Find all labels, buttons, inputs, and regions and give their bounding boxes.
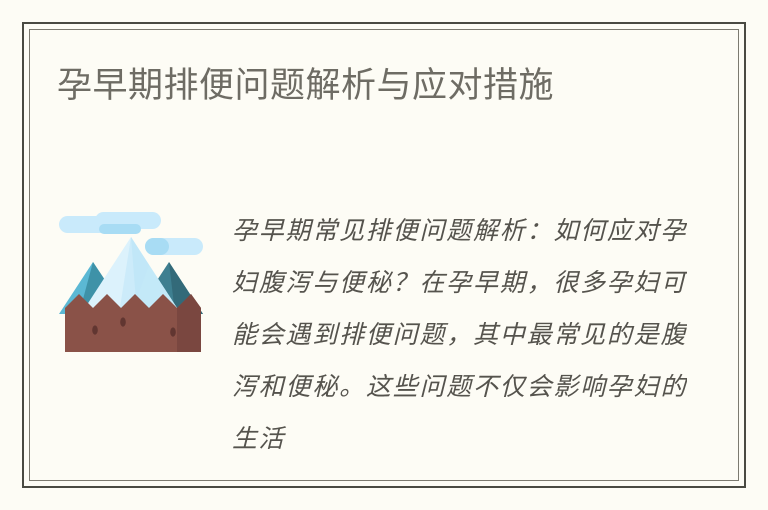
page-title: 孕早期排便问题解析与应对措施	[57, 63, 554, 109]
rock-dot	[170, 327, 176, 336]
rock-dot	[120, 317, 126, 326]
rock-dot	[92, 325, 98, 334]
mountain-illustration	[57, 210, 209, 362]
article-content: 孕早期常见排便问题解析：如何应对孕妇腹泻与便秘？在孕早期，很多孕妇可能会遇到排便…	[57, 205, 697, 465]
article-paragraph: 孕早期常见排便问题解析：如何应对孕妇腹泻与便秘？在孕早期，很多孕妇可能会遇到排便…	[232, 205, 687, 465]
article-card: 孕早期排便问题解析与应对措施	[0, 0, 768, 510]
